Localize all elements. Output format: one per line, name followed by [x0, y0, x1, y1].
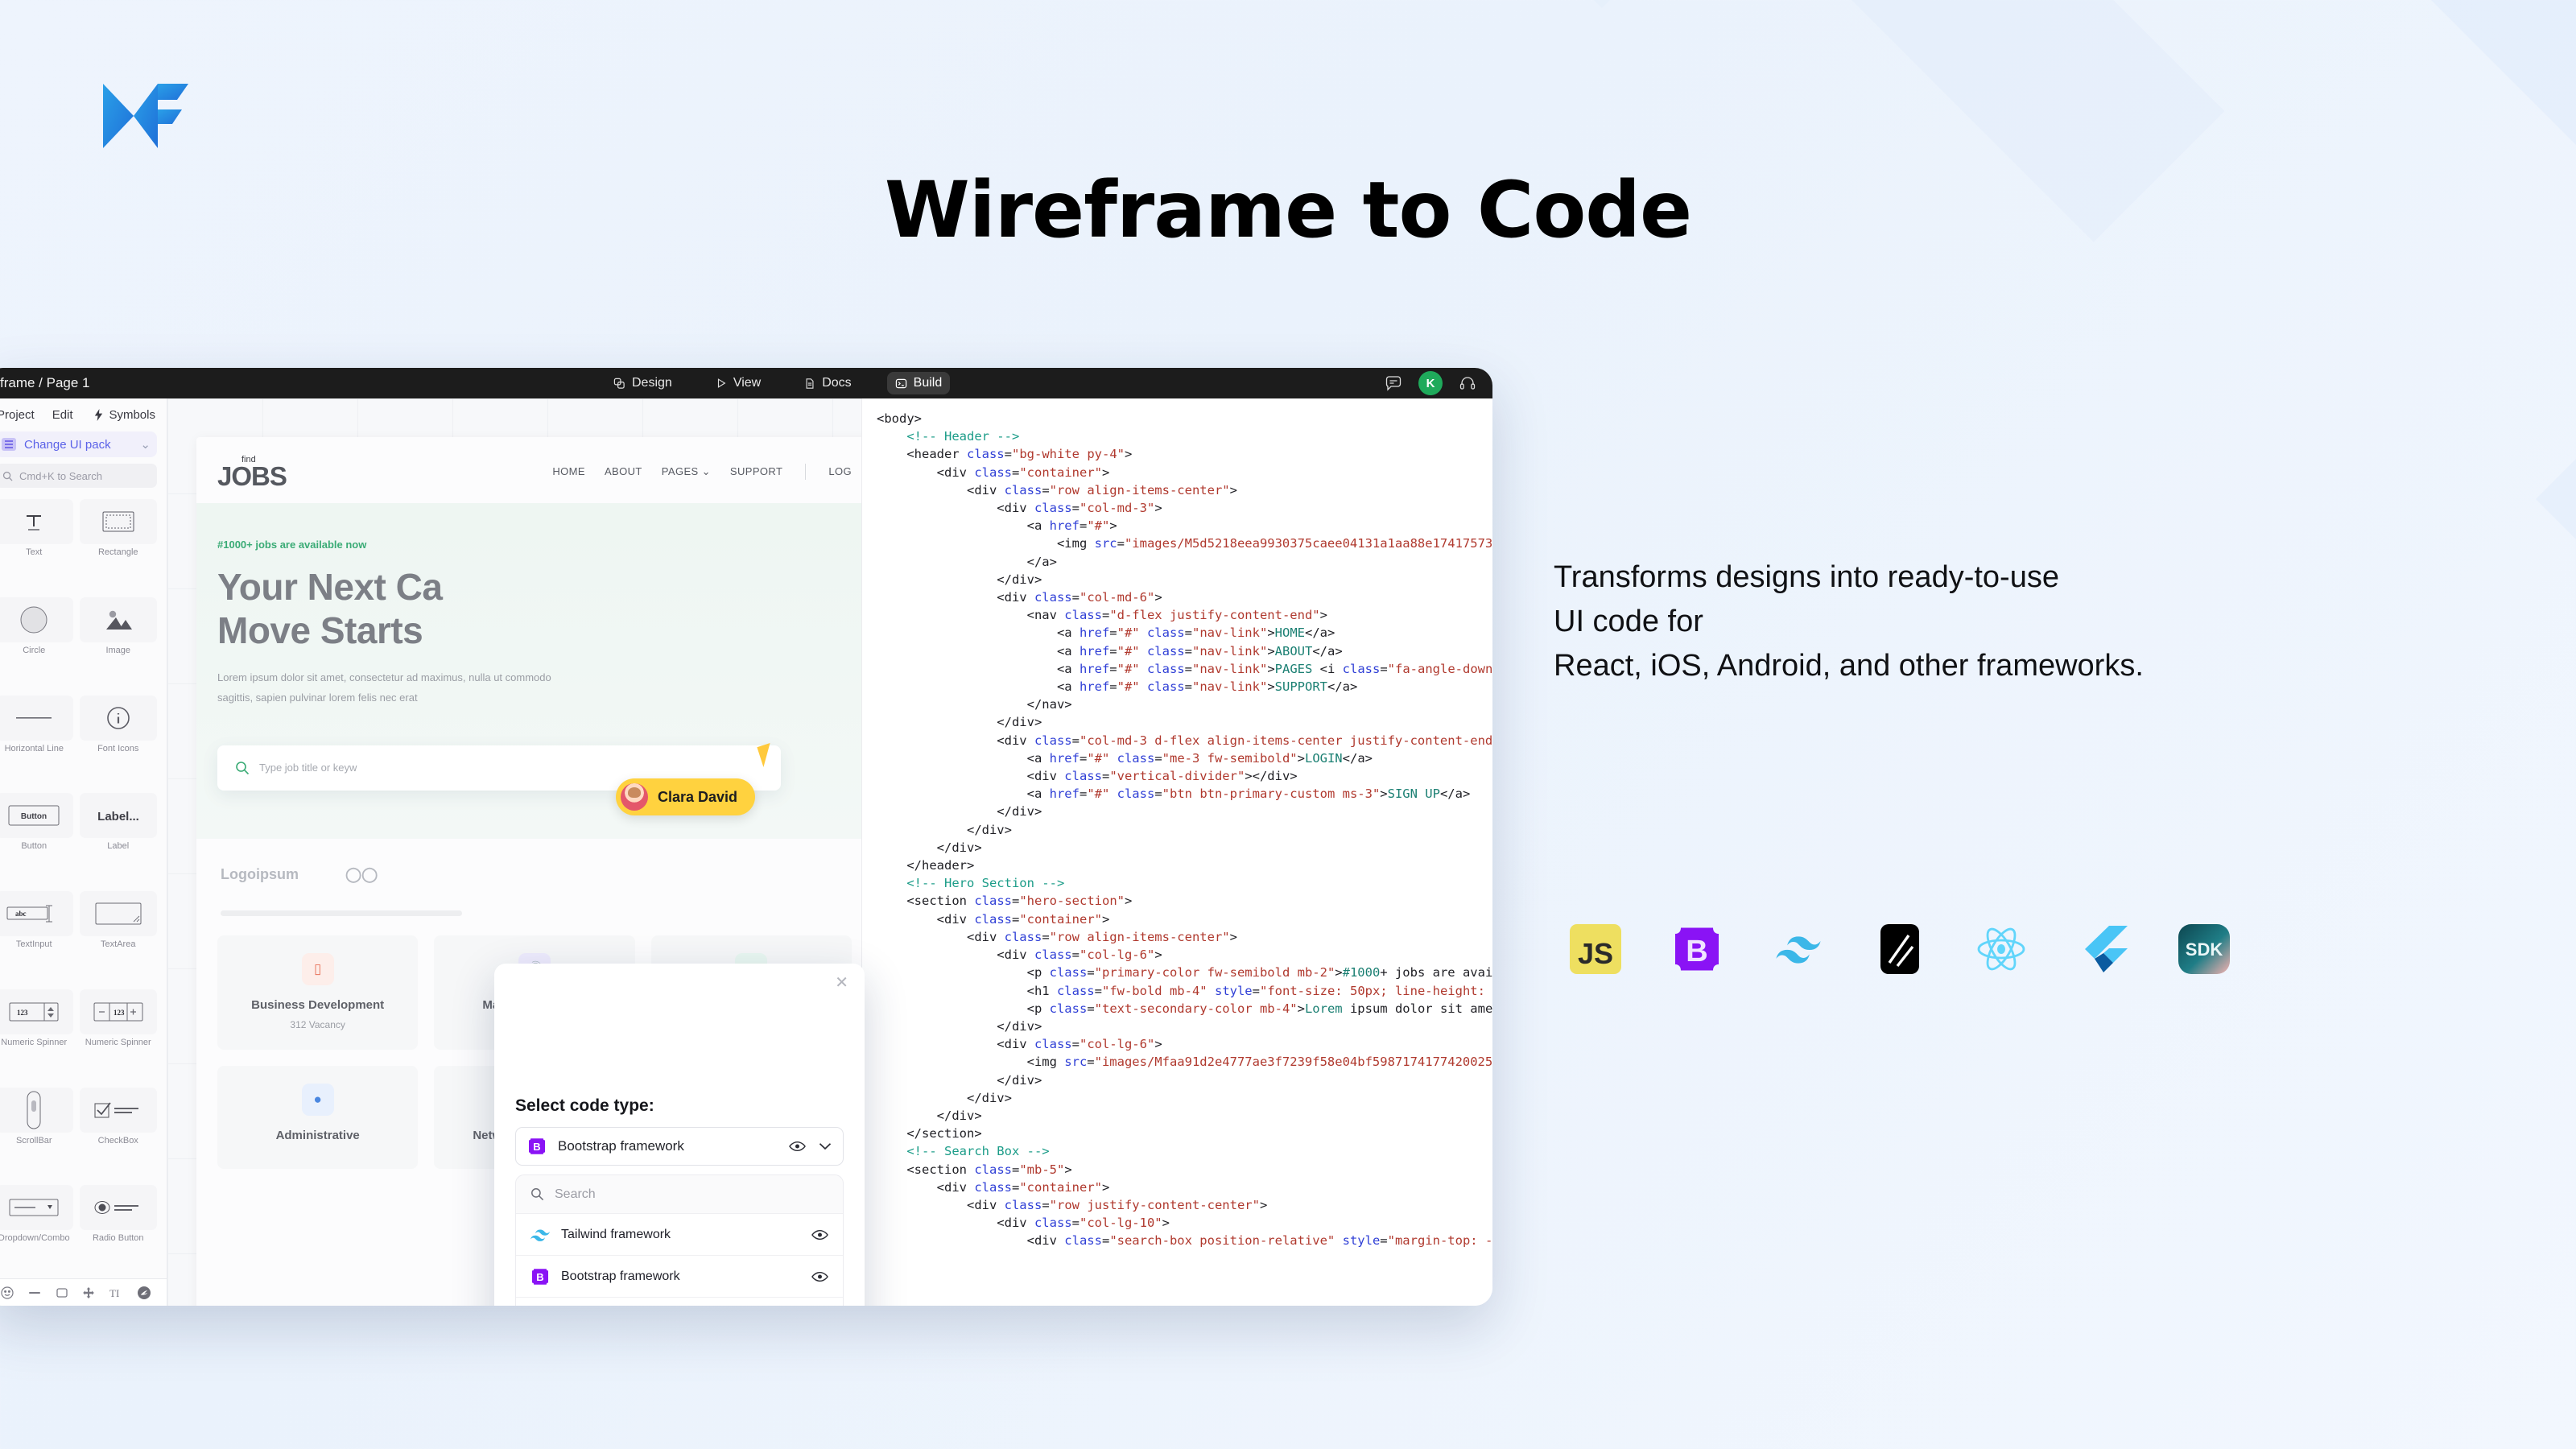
tech-logos-row: JS B SDK — [1566, 919, 2234, 979]
nav-pages[interactable]: PAGES ⌄ — [662, 465, 711, 478]
tool-label: Font Icons — [80, 744, 158, 753]
horizontal-line-tool-icon — [0, 696, 73, 741]
code-line: </nav> — [877, 696, 1492, 713]
code-line: </div> — [877, 1018, 1492, 1035]
button-tool-icon: Button — [0, 793, 73, 838]
hero-kicker: #1000+ jobs are available now — [217, 539, 852, 551]
code-line: <a href="#" class="nav-link">HOME</a> — [877, 624, 1492, 642]
avatar[interactable]: K — [1418, 371, 1443, 395]
code-line: <!-- Hero Section --> — [877, 874, 1492, 892]
svg-text:TI: TI — [109, 1287, 119, 1299]
svg-text:SDK: SDK — [2186, 939, 2223, 960]
svg-text:123: 123 — [114, 1009, 125, 1017]
line-icon[interactable] — [27, 1289, 42, 1297]
tool-label: Button — [0, 841, 73, 851]
code-line: <a href="#"> — [877, 517, 1492, 535]
code-line: <a href="#" class="me-3 fw-semibold">LOG… — [877, 749, 1492, 767]
type-icon[interactable]: TI — [109, 1286, 123, 1299]
bootstrap-icon: B — [527, 1137, 547, 1156]
tool-horizontal-line[interactable]: Horizontal Line — [0, 696, 73, 786]
tool-grid: Text Rectangle Circle — [0, 496, 167, 1278]
toolbox-footer: TI — [0, 1278, 167, 1306]
font-icons-tool-icon — [80, 696, 158, 741]
tool-label-widget[interactable]: Label... Label — [80, 793, 158, 883]
category-vacancy: 312 Vacancy — [225, 1019, 410, 1030]
tailwind-logo — [1769, 919, 1828, 979]
hero-search-placeholder: Type job title or keyw — [259, 762, 357, 774]
code-line: <div class="col-md-3 d-flex align-items-… — [877, 732, 1492, 749]
dropdown-option-material[interactable]: Material framework — [516, 1298, 843, 1306]
toolbox-search-placeholder: Cmd+K to Search — [19, 470, 102, 482]
label-tool-icon: Label... — [80, 793, 158, 838]
tool-label: ScrollBar — [0, 1136, 73, 1146]
page-title: Wireframe to Code — [0, 165, 2576, 255]
tool-label: TextInput — [0, 939, 73, 949]
tool-font-icons[interactable]: Font Icons — [80, 696, 158, 786]
tool-dropdown[interactable]: Dropdown/Combo — [0, 1185, 73, 1275]
text-tool-icon — [0, 499, 73, 544]
toolbox-search-input[interactable]: Cmd+K to Search — [0, 464, 157, 488]
code-line: </div> — [877, 1071, 1492, 1089]
menu-project[interactable]: Project — [0, 408, 35, 422]
code-line: <a href="#" class="nav-link">PAGES <i cl… — [877, 660, 1492, 678]
code-line: <p class="primary-color fw-semibold mb-2… — [877, 964, 1492, 981]
scrollbar-tool-icon — [0, 1088, 73, 1133]
code-line: <div class="row justify-content-center"> — [877, 1196, 1492, 1214]
code-line: <p class="text-secondary-color mb-4">Lor… — [877, 1000, 1492, 1018]
checkbox-tool-icon — [80, 1088, 158, 1133]
app-titlebar: frame / Page 1 Design View Docs Build K — [0, 368, 1492, 398]
eye-icon[interactable] — [789, 1141, 806, 1152]
lightning-icon — [93, 409, 104, 421]
code-line: <div class="vertical-divider"></div> — [877, 767, 1492, 785]
terminal-icon — [895, 378, 907, 390]
wireframe-logo: find JOBS — [217, 455, 287, 489]
code-line: <div class="container"> — [877, 1179, 1492, 1196]
select-code-type-modal: ✕ Select code type: B Bootstrap framewor… — [494, 964, 865, 1306]
bootstrap-logo: B — [1667, 919, 1727, 979]
circle-tool-icon — [0, 597, 73, 642]
modal-title: Select code type: — [515, 1096, 654, 1116]
partner-logo: Logoipsum — [221, 866, 299, 883]
tab-docs[interactable]: Docs — [796, 372, 859, 394]
code-line: <a href="#" class="nav-link">ABOUT</a> — [877, 642, 1492, 660]
tab-label: View — [733, 376, 761, 390]
svg-text:B: B — [536, 1271, 543, 1283]
nav-login[interactable]: LOG — [828, 465, 852, 477]
rectangle-tool-icon — [80, 499, 158, 544]
tool-label: Numeric Spinner — [80, 1038, 158, 1047]
tab-label: Build — [914, 376, 943, 390]
close-icon[interactable]: ✕ — [835, 975, 848, 991]
wireframe-navbar: find JOBS HOME ABOUT PAGES ⌄ SUPPORT LOG — [196, 437, 861, 503]
hero-heading: Your Next Ca Move Starts — [217, 565, 596, 653]
dropdown-option-bootstrap[interactable]: B Bootstrap framework — [516, 1256, 843, 1298]
svg-text:Button: Button — [21, 812, 47, 821]
headset-icon[interactable] — [1459, 374, 1476, 392]
svg-text:Label...: Label... — [97, 810, 139, 824]
menu-edit[interactable]: Edit — [52, 408, 73, 422]
code-type-select[interactable]: B Bootstrap framework — [515, 1127, 844, 1166]
dropdown-tool-icon — [0, 1185, 73, 1230]
code-text: <body> <!-- Header --> <header class="bg… — [877, 410, 1492, 1250]
tool-radio-button[interactable]: Radio Button — [80, 1185, 158, 1275]
text-input-tool-icon: abc — [0, 891, 73, 936]
javascript-logo: JS — [1566, 919, 1625, 979]
code-line: <div class="row align-items-center"> — [877, 928, 1492, 946]
person-icon: ● — [302, 1084, 334, 1116]
dropdown-option-label: Bootstrap framework — [561, 1269, 680, 1284]
nav-home[interactable]: HOME — [552, 465, 585, 477]
search-icon — [2, 471, 13, 481]
numeric-spinner-tool-icon: 123 — [0, 989, 73, 1034]
chevron-down-icon: ⌄ — [140, 437, 151, 452]
tool-text[interactable]: Text — [0, 499, 73, 589]
tool-label: Text — [0, 547, 73, 557]
tool-label: Label — [80, 841, 158, 851]
wireframe-to-code-logo-icon — [98, 71, 193, 155]
menu-symbols-label: Symbols — [109, 408, 155, 422]
search-icon — [530, 1187, 544, 1201]
code-line: <a href="#" class="nav-link">SUPPORT</a> — [877, 678, 1492, 696]
wireframe-placeholder-bar — [196, 910, 861, 931]
square-icon[interactable] — [56, 1286, 68, 1299]
code-line: <div class="col-lg-10"> — [877, 1214, 1492, 1232]
code-line: <section class="mb-5"> — [877, 1161, 1492, 1179]
shadcn-logo — [1870, 919, 1930, 979]
svg-text:B: B — [1686, 935, 1707, 968]
wireframe-partner-logos: Logoipsum ◯◯ — [196, 839, 861, 910]
svg-text:123: 123 — [17, 1009, 28, 1017]
tool-numeric-spinner-plusminus[interactable]: 123 Numeric Spinner — [80, 989, 158, 1080]
emoji-icon[interactable] — [1, 1286, 14, 1299]
code-line: </div> — [877, 803, 1492, 820]
category-title: Administrative — [225, 1129, 410, 1142]
category-title: Business Development — [225, 998, 410, 1012]
avatar — [621, 783, 648, 811]
code-line: <div class="row align-items-center"> — [877, 481, 1492, 499]
numeric-spinner-plusminus-tool-icon: 123 — [80, 989, 158, 1034]
change-ui-pack-label: Change UI pack — [24, 438, 111, 452]
code-line: <body> — [877, 410, 1492, 427]
tool-label: Numeric Spinner — [0, 1038, 73, 1047]
text-area-tool-icon — [80, 891, 158, 936]
nav-about[interactable]: ABOUT — [605, 465, 642, 477]
tool-numeric-spinner[interactable]: 123 Numeric Spinner — [0, 989, 73, 1080]
dropdown-search-input[interactable]: Search — [516, 1175, 843, 1214]
category-card[interactable]: ▯ Business Development 312 Vacancy — [217, 935, 418, 1050]
chat-icon[interactable] — [1385, 374, 1402, 392]
ui-pack-icon — [2, 438, 16, 451]
code-line: <div class="search-box position-relative… — [877, 1232, 1492, 1249]
code-preview-pane[interactable]: <body> <!-- Header --> <header class="bg… — [861, 398, 1492, 1306]
category-card[interactable]: ● Administrative — [217, 1066, 418, 1169]
tool-label: Circle — [0, 646, 73, 655]
collaborator-name: Clara David — [658, 789, 737, 806]
code-type-dropdown[interactable]: Search Tailwind framework B Bootstrap fr… — [515, 1174, 844, 1306]
code-line: </div> — [877, 821, 1492, 839]
code-line: <nav class="d-flex justify-content-end"> — [877, 606, 1492, 624]
tailwind-icon — [530, 1225, 550, 1245]
tab-view[interactable]: View — [708, 372, 769, 394]
nav-support[interactable]: SUPPORT — [730, 465, 782, 477]
code-line: </header> — [877, 857, 1492, 874]
move-icon[interactable] — [82, 1286, 95, 1299]
eye-icon[interactable] — [811, 1229, 828, 1241]
flutter-logo — [2073, 919, 2132, 979]
code-line: <a href="#" class="btn btn-primary-custo… — [877, 785, 1492, 803]
tab-label: Design — [632, 376, 672, 390]
marketing-line-3: React, iOS, Android, and other framework… — [1554, 644, 2504, 688]
play-icon — [716, 378, 727, 389]
code-line: <img src="images/Mfaa91d2e4777ae3f7239f5… — [877, 1053, 1492, 1071]
code-line: </div> — [877, 839, 1492, 857]
tool-label: TextArea — [80, 939, 158, 949]
change-ui-pack-button[interactable]: Change UI pack ⌄ — [0, 431, 157, 457]
code-line: <!-- Search Box --> — [877, 1142, 1492, 1160]
code-line: <h1 class="fw-bold mb-4" style="font-siz… — [877, 982, 1492, 1000]
tool-label: Rectangle — [80, 547, 158, 557]
code-line: <div class="col-md-6"> — [877, 588, 1492, 606]
marketing-line-1: Transforms designs into ready-to-use — [1554, 555, 2504, 600]
tool-scrollbar[interactable]: ScrollBar — [0, 1088, 73, 1178]
bg-diagonal-band — [805, 0, 1670, 8]
code-line: <div class="col-md-3"> — [877, 499, 1492, 517]
document-icon — [804, 378, 815, 390]
code-type-selected-label: Bootstrap framework — [558, 1138, 684, 1154]
dropdown-option-tailwind[interactable]: Tailwind framework — [516, 1214, 843, 1256]
bootstrap-icon: B — [530, 1267, 550, 1286]
nav-divider — [805, 464, 806, 480]
chevron-down-icon[interactable] — [819, 1142, 832, 1150]
code-line: <section class="hero-section"> — [877, 892, 1492, 910]
wireframe-logo-main: JOBS — [217, 464, 287, 489]
eye-icon[interactable] — [811, 1271, 828, 1282]
collaborator-label: Clara David — [616, 778, 755, 815]
dropdown-search-placeholder: Search — [555, 1187, 596, 1202]
tool-label: Horizontal Line — [0, 744, 73, 753]
toolbox-menubar: Project Edit Symbols — [0, 398, 167, 430]
search-icon — [235, 761, 250, 775]
ink-icon[interactable] — [137, 1286, 151, 1300]
tab-design[interactable]: Design — [605, 372, 680, 394]
partner-logo: ◯◯ — [345, 866, 378, 883]
code-line: <header class="bg-white py-4"> — [877, 445, 1492, 463]
tool-label: Dropdown/Combo — [0, 1233, 73, 1243]
wireframe-nav-links: HOME ABOUT PAGES ⌄ SUPPORT LOG — [552, 464, 852, 480]
tool-image[interactable]: Image — [80, 597, 158, 687]
tool-checkbox[interactable]: CheckBox — [80, 1088, 158, 1178]
code-line: <div class="col-lg-6"> — [877, 1035, 1492, 1053]
titlebar-tabs: Design View Docs Build — [605, 368, 950, 398]
hero-paragraph: Lorem ipsum dolor sit amet, consectetur … — [217, 668, 555, 708]
tool-label: Radio Button — [80, 1233, 158, 1243]
wireframe-hero: #1000+ jobs are available now Your Next … — [196, 503, 861, 839]
code-line: </div> — [877, 1089, 1492, 1107]
image-tool-icon — [80, 597, 158, 642]
svg-text:abc: abc — [15, 910, 27, 918]
sdk-logo: SDK — [2174, 919, 2234, 979]
code-line: <div class="container"> — [877, 910, 1492, 928]
layers-icon — [613, 378, 625, 390]
code-line: </div> — [877, 1107, 1492, 1125]
react-logo — [1971, 919, 2031, 979]
radio-button-tool-icon — [80, 1185, 158, 1230]
tab-build[interactable]: Build — [887, 372, 951, 394]
tool-circle[interactable]: Circle — [0, 597, 73, 687]
toolbox-panel: Project Edit Symbols Change UI pack ⌄ Cm… — [0, 398, 167, 1306]
code-line: </a> — [877, 553, 1492, 571]
breadcrumb: frame / Page 1 — [0, 375, 90, 391]
tool-rectangle[interactable]: Rectangle — [80, 499, 158, 589]
code-line: <div class="container"> — [877, 464, 1492, 481]
svg-text:B: B — [533, 1141, 540, 1153]
tool-label: Image — [80, 646, 158, 655]
menu-symbols[interactable]: Symbols — [93, 408, 155, 422]
code-line: <div class="col-lg-6"> — [877, 946, 1492, 964]
tool-label: CheckBox — [80, 1136, 158, 1146]
app-window: frame / Page 1 Design View Docs Build K — [0, 368, 1492, 1306]
code-line: <!-- Header --> — [877, 427, 1492, 445]
tab-label: Docs — [822, 376, 851, 390]
bg-diagonal-band — [2536, 260, 2576, 1449]
code-line: </section> — [877, 1125, 1492, 1142]
tool-text-input[interactable]: abc TextInput — [0, 891, 73, 981]
tool-button[interactable]: Button Button — [0, 793, 73, 883]
code-line: </div> — [877, 713, 1492, 731]
titlebar-actions: K — [1385, 368, 1476, 398]
code-line: </div> — [877, 571, 1492, 588]
code-line: <img src="images/M5d5218eea9930375caee04… — [877, 535, 1492, 552]
marketing-copy: Transforms designs into ready-to-use UI … — [1554, 555, 2504, 688]
dropdown-option-label: Tailwind framework — [561, 1228, 671, 1242]
svg-text:JS: JS — [1578, 937, 1613, 970]
marketing-line-2: UI code for — [1554, 600, 2504, 644]
briefcase-icon: ▯ — [302, 953, 334, 985]
tool-text-area[interactable]: TextArea — [80, 891, 158, 981]
